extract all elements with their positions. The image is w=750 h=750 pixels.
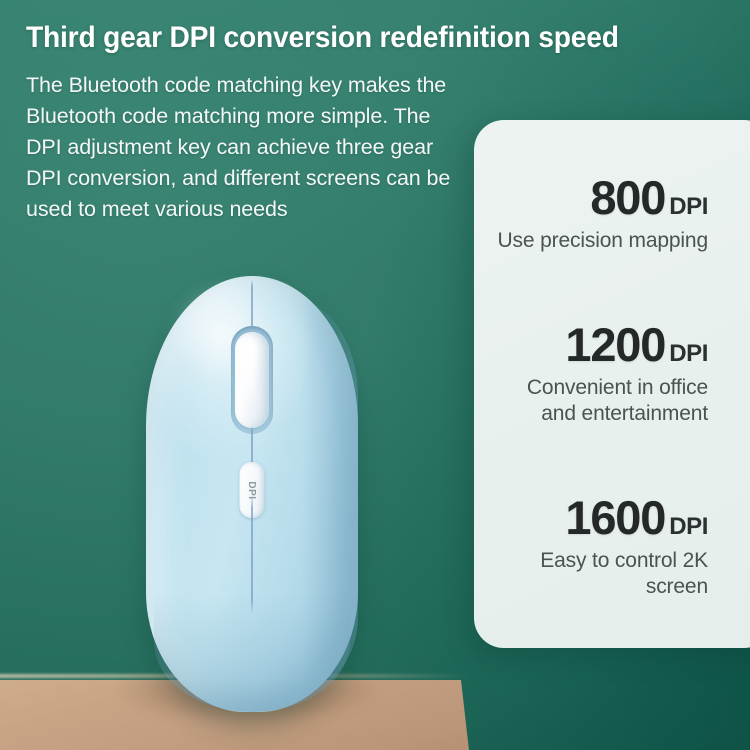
dpi-spec-card: 800 DPI Use precision mapping 1200 DPI C… (474, 120, 750, 648)
spec-description-800: Use precision mapping (492, 228, 708, 254)
mouse-seam-lower (251, 494, 253, 614)
spec-value-800: 800 (590, 174, 665, 221)
spec-value-1200: 1200 (565, 321, 665, 368)
spec-row-800: 800 DPI Use precision mapping (492, 174, 708, 254)
spec-unit-1200: DPI (669, 342, 708, 366)
spec-description-1200: Convenient in office and entertainment (492, 375, 708, 428)
spec-row-1200: 1200 DPI Convenient in office and entert… (492, 321, 708, 428)
spec-row-1600: 1600 DPI Easy to control 2K screen (492, 494, 708, 601)
mouse-seam-top (251, 280, 253, 332)
mouse-seam-middle (251, 426, 253, 466)
page-title: Third gear DPI conversion redefinition s… (26, 22, 700, 54)
scroll-wheel (235, 332, 269, 428)
product-image-mouse: DPI (146, 276, 358, 712)
page-description: The Bluetooth code matching key makes th… (26, 70, 456, 225)
spec-unit-1600: DPI (669, 515, 708, 539)
scroll-wheel-gloss (244, 342, 256, 404)
spec-unit-800: DPI (669, 195, 708, 219)
spec-value-1600: 1600 (565, 494, 665, 541)
spec-description-1600: Easy to control 2K screen (492, 548, 708, 601)
product-marketing-banner: DPI Third gear DPI conversion redefiniti… (0, 0, 750, 750)
